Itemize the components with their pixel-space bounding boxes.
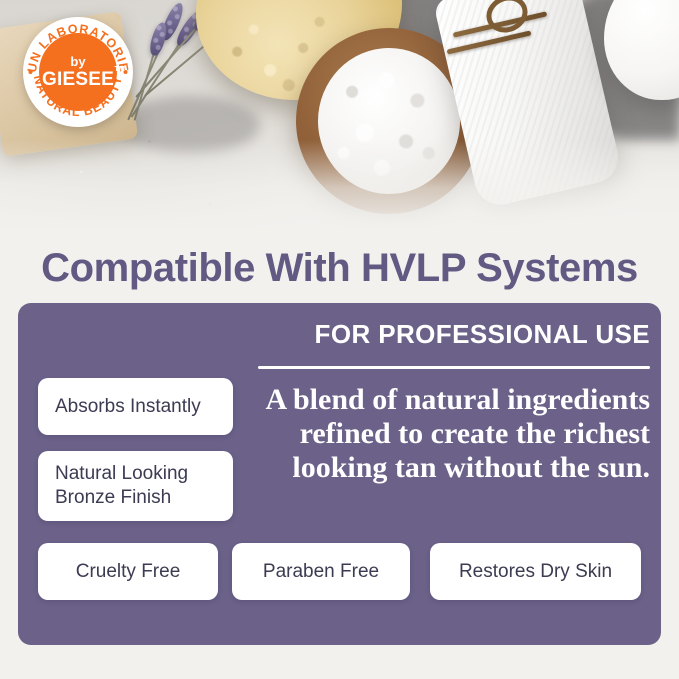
product-feature-card: SUN LABORATORIES NATURAL BEAUTY by GIESE… (0, 0, 679, 679)
badge-brand-name: GIESEE TM (42, 70, 114, 89)
badge-brand-name-text: GIESEE (42, 69, 114, 90)
badge-dot (29, 70, 33, 74)
feature-pill-restores-dry-skin: Restores Dry Skin (430, 543, 641, 600)
description-line: A blend of natural (265, 383, 499, 416)
panel-heading: FOR PROFESSIONAL USE (258, 319, 650, 350)
feature-pill-label: Paraben Free (263, 560, 379, 584)
panel-description: A blend of natural ingredients refined t… (236, 383, 650, 485)
photo-fade (0, 140, 679, 232)
feature-pill-label: Restores Dry Skin (459, 560, 612, 584)
page-title: Compatible With HVLP Systems (0, 246, 679, 291)
feature-panel: FOR PROFESSIONAL USE A blend of natural … (18, 303, 661, 645)
feature-pill-cruelty-free: Cruelty Free (38, 543, 218, 600)
feature-pill-label-group: Natural Looking Bronze Finish (55, 462, 188, 510)
feature-pill-absorbs-instantly: Absorbs Instantly (38, 378, 233, 435)
feature-pill-label: Cruelty Free (76, 560, 181, 584)
description-line: without the sun. (444, 451, 650, 484)
trademark-symbol: TM (114, 66, 125, 73)
badge-by-label: by (70, 55, 85, 68)
feature-pill-label: Bronze Finish (55, 486, 188, 510)
feature-pill-label: Absorbs Instantly (55, 395, 201, 419)
feature-pill-paraben-free: Paraben Free (232, 543, 410, 600)
feature-pill-natural-looking-bronze-finish: Natural Looking Bronze Finish (38, 451, 233, 521)
brand-badge: SUN LABORATORIES NATURAL BEAUTY by GIESE… (23, 17, 133, 127)
panel-divider (258, 366, 650, 369)
badge-center: by GIESEE TM (39, 33, 117, 111)
feature-pill-label: Natural Looking (55, 462, 188, 486)
